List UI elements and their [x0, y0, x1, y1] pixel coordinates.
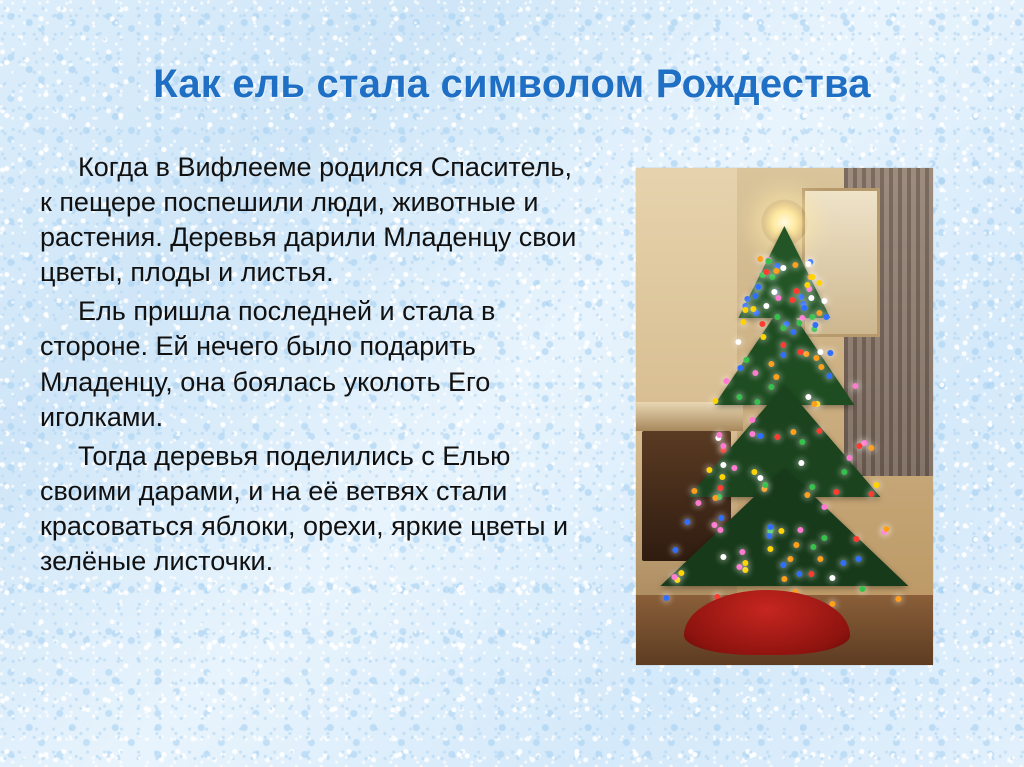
paragraph-3: Тогда деревья поделились с Елью своими д… — [40, 439, 585, 579]
slide-content: Как ель стала символом Рождества Когда в… — [0, 0, 1024, 767]
slide: Как ель стала символом Рождества Когда в… — [0, 0, 1024, 767]
tree-tier-4 — [660, 468, 908, 586]
tree-light — [895, 596, 901, 602]
body-text: Когда в Вифлееме родился Спаситель, к пе… — [40, 150, 585, 583]
christmas-tree — [648, 218, 921, 635]
tree-light — [663, 595, 669, 601]
christmas-tree-photo — [636, 168, 933, 665]
paragraph-1: Когда в Вифлееме родился Спаситель, к пе… — [40, 150, 585, 290]
page-title: Как ель стала символом Рождества — [0, 62, 1024, 106]
paragraph-2: Ель пришла последней и стала в стороне. … — [40, 294, 585, 434]
tree-light — [859, 586, 865, 592]
